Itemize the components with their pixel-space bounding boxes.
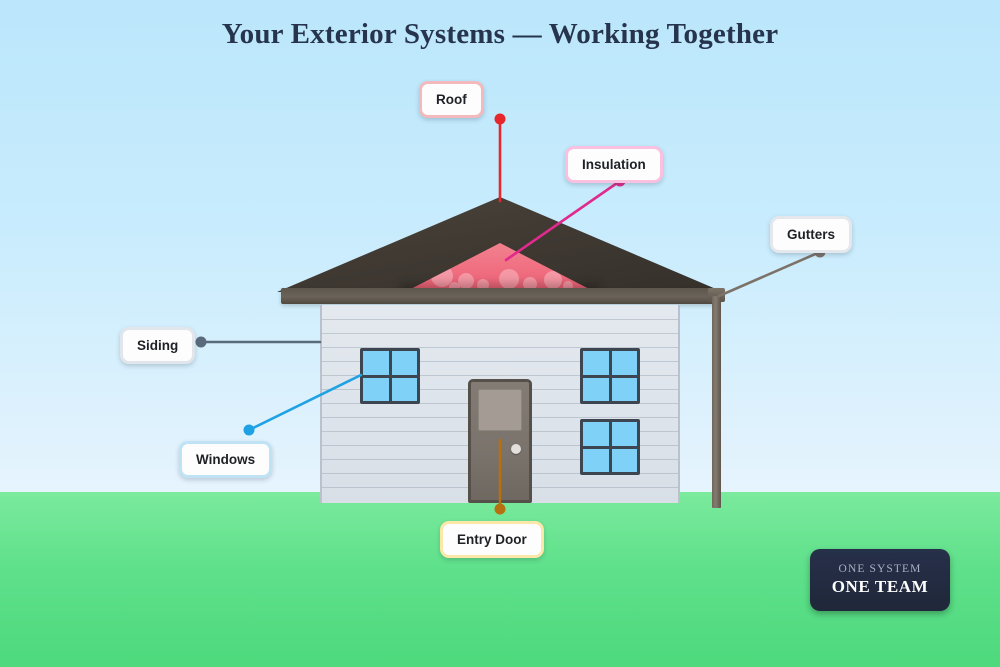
- connector-line-insulation: [506, 181, 620, 260]
- label-siding[interactable]: Siding: [120, 327, 195, 364]
- status-badge: ONE SYSTEM ONE TEAM: [810, 549, 950, 611]
- connector-dot-windows: [244, 425, 255, 436]
- label-entry-door[interactable]: Entry Door: [440, 521, 544, 558]
- diagram-canvas: Your Exterior Systems — Working Together…: [0, 0, 1000, 667]
- connector-dot-entry-door: [495, 504, 506, 515]
- connector-line-windows: [249, 375, 361, 430]
- connector-line-gutters: [719, 252, 820, 296]
- badge-main-line: ONE TEAM: [832, 577, 929, 597]
- label-windows[interactable]: Windows: [179, 441, 272, 478]
- badge-top-line: ONE SYSTEM: [839, 563, 922, 575]
- label-gutters[interactable]: Gutters: [770, 216, 852, 253]
- label-roof[interactable]: Roof: [419, 81, 484, 118]
- label-insulation[interactable]: Insulation: [565, 146, 663, 183]
- connector-dot-roof: [495, 114, 506, 125]
- connector-dot-siding: [196, 337, 207, 348]
